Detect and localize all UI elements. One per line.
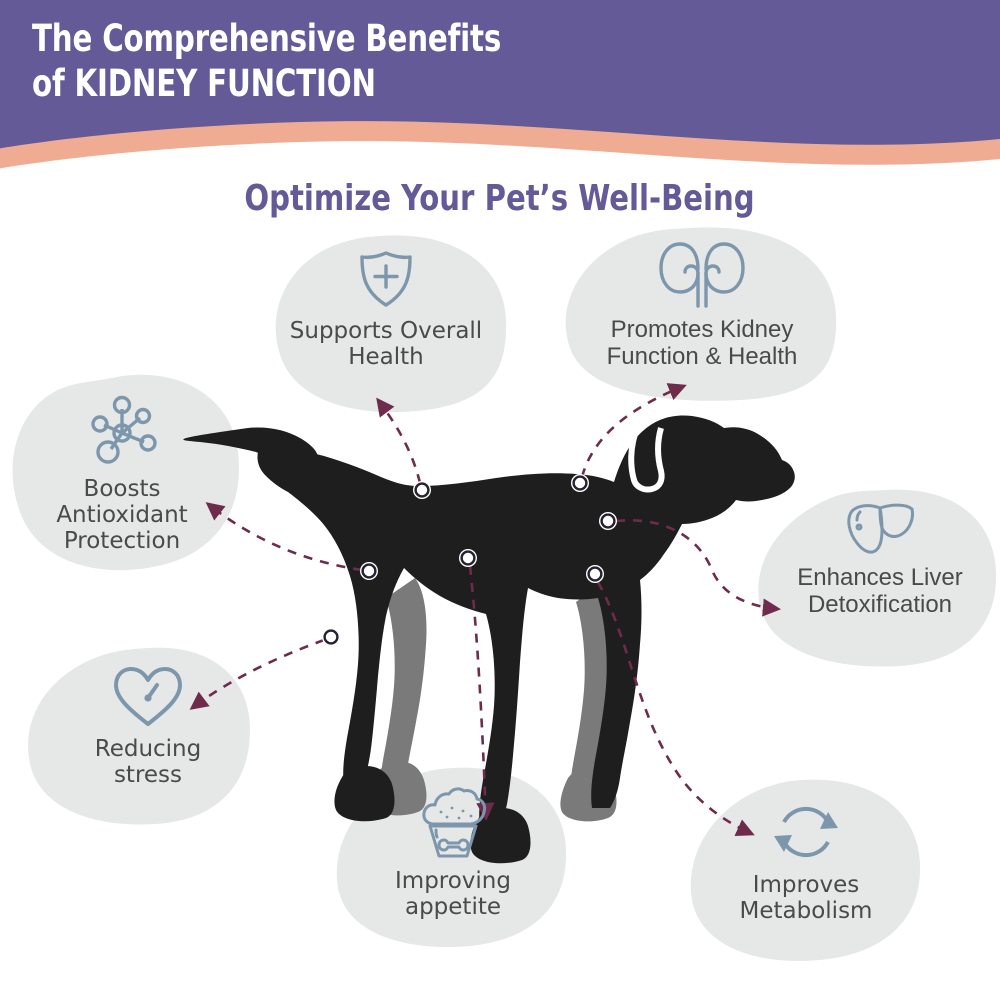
- benefit-liver[interactable]: Enhances Liver Detoxification: [760, 500, 1000, 619]
- connector-belly-to-appetite: [470, 566, 486, 818]
- connector-dot: [586, 565, 604, 583]
- heart-gauge-icon: [110, 664, 186, 730]
- benefit-stress[interactable]: Reducing stress: [48, 664, 248, 788]
- molecule-icon: [82, 392, 162, 470]
- connector-dot: [322, 628, 340, 646]
- benefit-overall-health-label: Supports Overall Health: [290, 318, 482, 370]
- benefit-appetite[interactable]: Improving appetite: [348, 784, 558, 920]
- benefit-stress-label: Reducing stress: [95, 736, 202, 788]
- benefit-metabolism[interactable]: Improves Metabolism: [700, 798, 912, 924]
- connector-hip-to-metabolism: [598, 582, 752, 834]
- benefit-appetite-label: Improving appetite: [395, 868, 511, 920]
- connector-dot: [599, 512, 617, 530]
- connector-dot: [360, 562, 378, 580]
- benefit-kidney[interactable]: Promotes Kidney Function & Health: [566, 240, 838, 371]
- connector-dot: [459, 549, 477, 567]
- connector-dots: [322, 474, 617, 646]
- benefit-overall-health[interactable]: Supports Overall Health: [268, 248, 504, 370]
- connector-neck-to-kidney: [582, 386, 684, 477]
- connector-dot: [571, 474, 589, 492]
- benefit-kidney-label: Promotes Kidney Function & Health: [607, 316, 798, 371]
- kidneys-icon: [656, 240, 748, 310]
- liver-icon: [844, 500, 916, 558]
- cycle-arrows-icon: [770, 798, 842, 866]
- connector-shoulder-to-liver: [616, 520, 778, 609]
- benefit-liver-label: Enhances Liver Detoxification: [797, 564, 962, 619]
- benefit-antioxidant-label: Boosts Antioxidant Protection: [56, 476, 187, 554]
- infographic-canvas: The Comprehensive Benefits of KIDNEY FUN…: [0, 0, 1000, 1000]
- benefit-metabolism-label: Improves Metabolism: [740, 872, 873, 924]
- connector-dot: [413, 481, 431, 499]
- shield-plus-icon: [353, 248, 419, 312]
- benefit-antioxidant[interactable]: Boosts Antioxidant Protection: [8, 392, 236, 554]
- food-bowl-icon: [414, 784, 492, 862]
- connector-withers-to-overall-health: [378, 400, 420, 483]
